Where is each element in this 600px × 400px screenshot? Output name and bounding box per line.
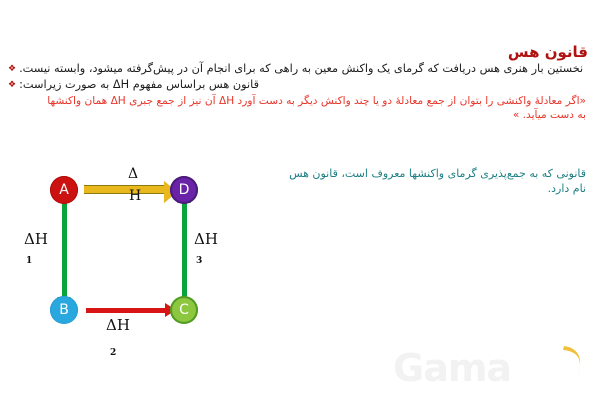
quote-line-2: به دست میآید. » [8,108,586,122]
slide-canvas: قانون هس ❖ نخستین بار هنری هس دریافت که … [0,0,600,400]
bullet-text-2: قانون هس براساس مفهوم ΔH به صورت زیراست: [19,77,259,92]
page-title: قانون هس [8,44,588,60]
bullet-item-2: ❖ قانون هس براساس مفهوم ΔH به صورت زیراس… [8,77,592,92]
subscript-2: 2 [110,348,116,358]
bullet-diamond-icon: ❖ [8,62,16,77]
label-delta-h-1: ΔH [24,230,48,248]
arrow-b-to-c [86,308,166,313]
watermark-text: Gama [393,346,511,390]
subscript-1: 1 [26,256,32,266]
bullet-text-1: نخستین بار هنری هس دریافت که گرمای یک وا… [19,61,583,76]
label-delta-h-3: ΔH [194,230,218,248]
text-content: قانون هس ❖ نخستین بار هنری هس دریافت که … [8,44,592,122]
hess-law-quote: «اگر معادلۀ واکنشی را بتوان از جمع معادل… [8,94,586,122]
label-a-to-d-h: H [129,188,141,204]
bullet-item-1: ❖ نخستین بار هنری هس دریافت که گرمای یک … [8,61,592,76]
label-a-to-d-delta: Δ [128,166,138,182]
quote-line-1: «اگر معادلۀ واکنشی را بتوان از جمع معادل… [47,95,586,107]
hess-cycle-diagram: Δ H ΔH 1 ΔH 3 ΔH 2 A D B C [22,168,232,363]
teal-note: قانونی که به جمع‌پذیری گرمای واکنشها معر… [276,166,586,196]
watermark-swoosh-icon [561,344,587,378]
bullet-diamond-icon: ❖ [8,78,16,93]
arrow-a-to-d [84,185,166,194]
node-b: B [50,296,78,324]
arrow-a-to-b [62,202,67,298]
node-a: A [50,176,78,204]
node-c: C [170,296,198,324]
subscript-3: 3 [196,256,202,266]
label-delta-h-2: ΔH [106,316,130,334]
arrow-c-to-d [182,202,187,298]
node-d: D [170,176,198,204]
watermark: Gama [393,348,593,392]
